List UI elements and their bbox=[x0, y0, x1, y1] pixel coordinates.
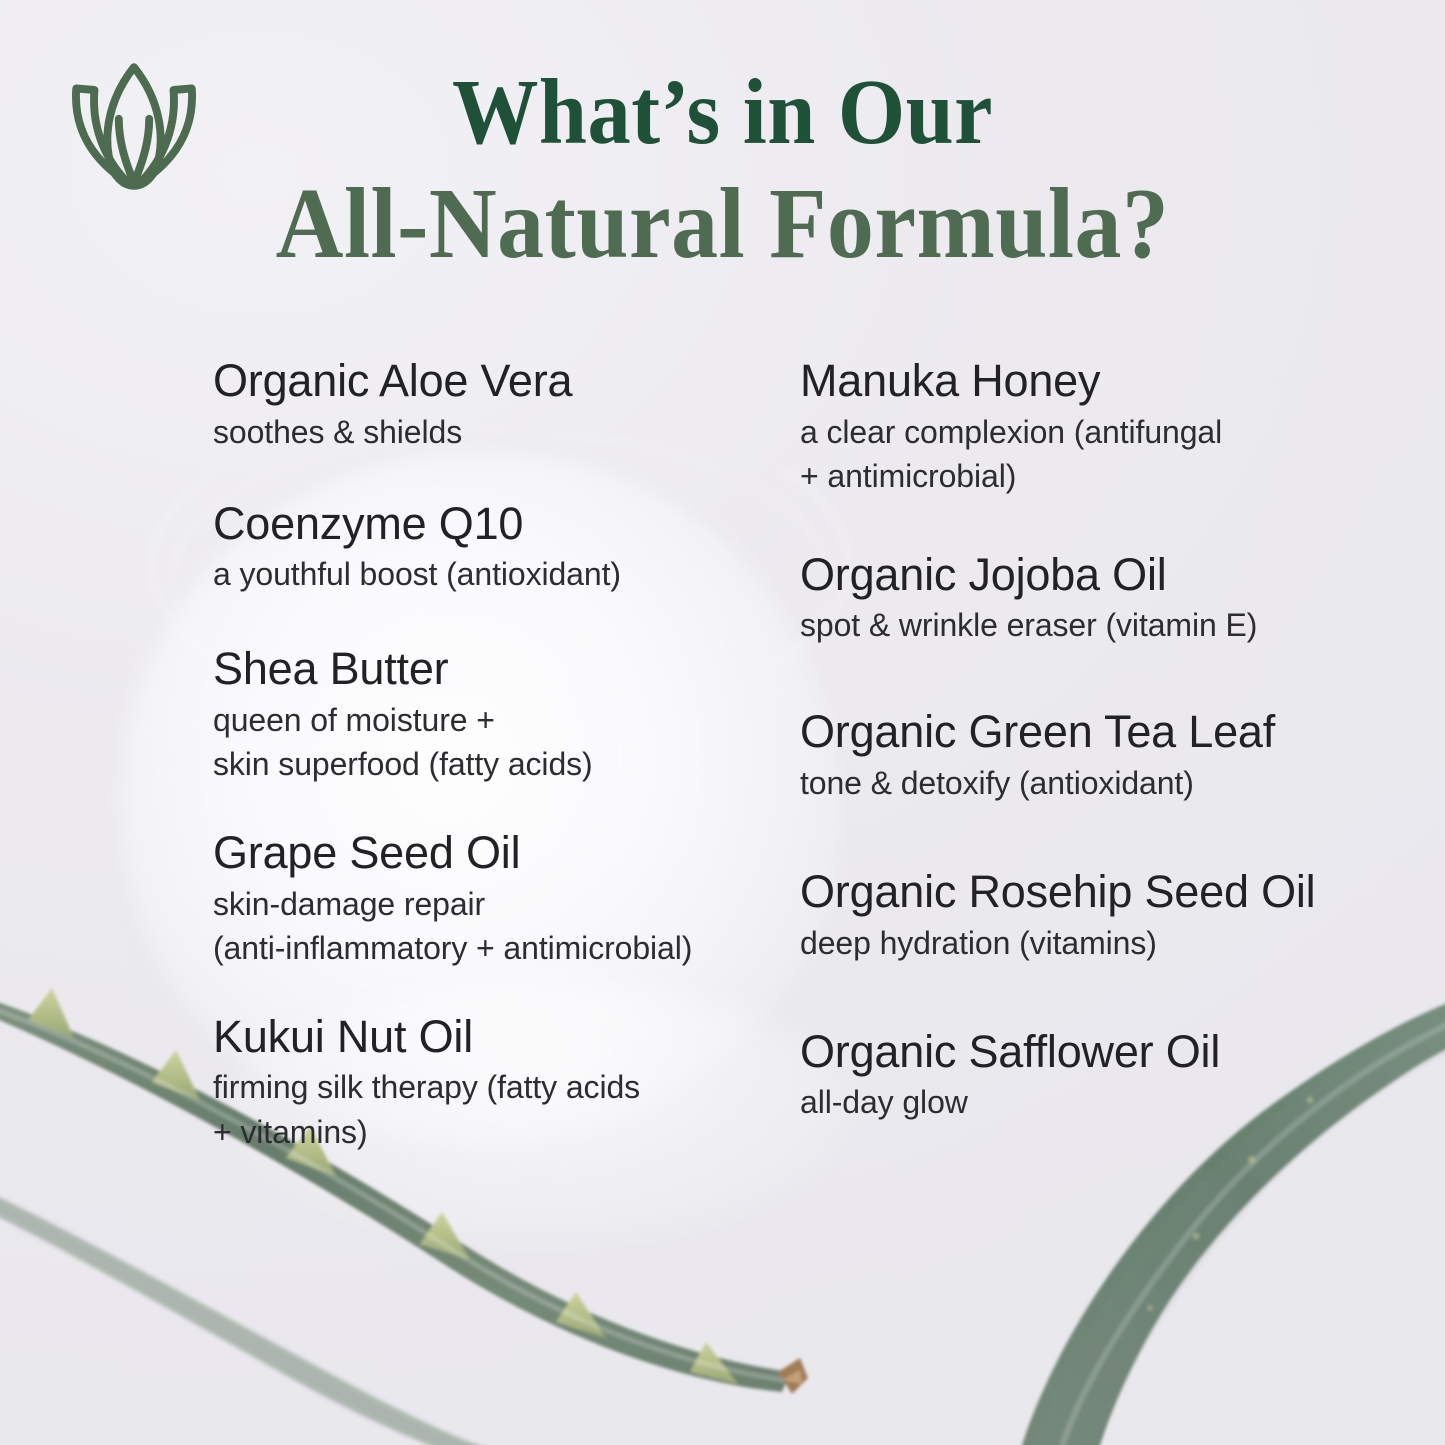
ingredient-name: Manuka Honey bbox=[800, 356, 1400, 406]
ingredient-description: a youthful boost (antioxidant) bbox=[213, 552, 773, 596]
ingredient-columns: Organic Aloe Vera soothes & shields Coen… bbox=[0, 0, 1445, 1445]
ingredient-name: Kukui Nut Oil bbox=[213, 1012, 773, 1062]
ingredient-column-right: Manuka Honey a clear complexion (antifun… bbox=[800, 356, 1400, 1124]
ingredient-description: spot & wrinkle eraser (vitamin E) bbox=[800, 603, 1400, 647]
ingredient-item: Coenzyme Q10 a youthful boost (antioxida… bbox=[213, 499, 773, 597]
ingredient-poster: What’s in Our All-Natural Formula? Organ… bbox=[0, 0, 1445, 1445]
ingredient-description: skin-damage repair (anti-inflammatory + … bbox=[213, 882, 773, 970]
ingredient-name: Organic Jojoba Oil bbox=[800, 550, 1400, 600]
ingredient-item: Organic Jojoba Oil spot & wrinkle eraser… bbox=[800, 550, 1400, 648]
ingredient-description: deep hydration (vitamins) bbox=[800, 921, 1400, 965]
ingredient-item: Organic Green Tea Leaf tone & detoxify (… bbox=[800, 707, 1400, 805]
ingredient-column-left: Organic Aloe Vera soothes & shields Coen… bbox=[213, 356, 773, 1154]
ingredient-description: a clear complexion (antifungal + antimic… bbox=[800, 410, 1400, 498]
ingredient-item: Organic Aloe Vera soothes & shields bbox=[213, 356, 773, 454]
ingredient-item: Manuka Honey a clear complexion (antifun… bbox=[800, 356, 1400, 498]
ingredient-description: queen of moisture + skin superfood (fatt… bbox=[213, 698, 773, 786]
ingredient-name: Organic Rosehip Seed Oil bbox=[800, 867, 1400, 917]
ingredient-name: Organic Safflower Oil bbox=[800, 1027, 1400, 1077]
ingredient-description: firming silk therapy (fatty acids + vita… bbox=[213, 1065, 773, 1153]
ingredient-description: tone & detoxify (antioxidant) bbox=[800, 761, 1400, 805]
ingredient-item: Grape Seed Oil skin-damage repair (anti-… bbox=[213, 828, 773, 970]
ingredient-description: all-day glow bbox=[800, 1080, 1400, 1124]
ingredient-name: Coenzyme Q10 bbox=[213, 499, 773, 549]
ingredient-name: Shea Butter bbox=[213, 644, 773, 694]
ingredient-item: Organic Safflower Oil all-day glow bbox=[800, 1027, 1400, 1125]
ingredient-description: soothes & shields bbox=[213, 410, 773, 454]
ingredient-item: Organic Rosehip Seed Oil deep hydration … bbox=[800, 867, 1400, 965]
ingredient-item: Kukui Nut Oil firming silk therapy (fatt… bbox=[213, 1012, 773, 1154]
ingredient-name: Grape Seed Oil bbox=[213, 828, 773, 878]
ingredient-name: Organic Green Tea Leaf bbox=[800, 707, 1400, 757]
ingredient-item: Shea Butter queen of moisture + skin sup… bbox=[213, 644, 773, 786]
ingredient-name: Organic Aloe Vera bbox=[213, 356, 773, 406]
